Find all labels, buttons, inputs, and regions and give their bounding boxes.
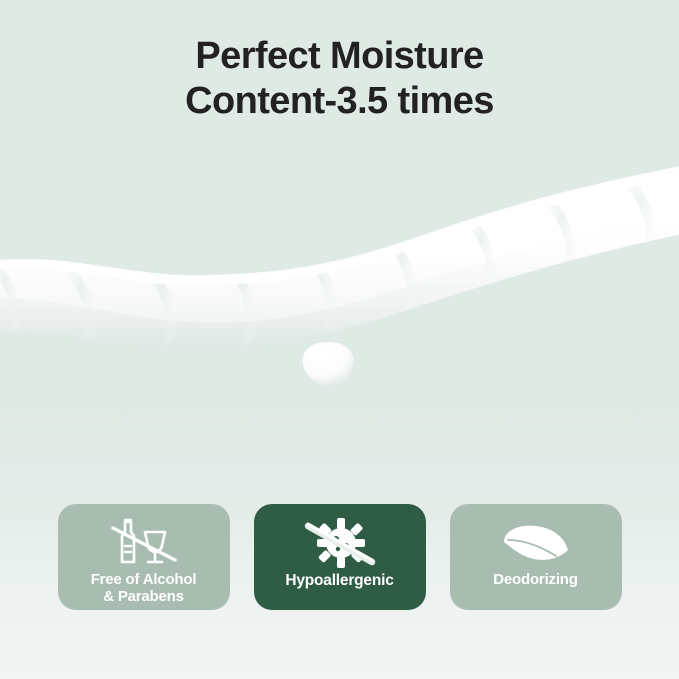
badge-label: Free of Alcohol & Parabens	[91, 572, 197, 606]
badge-free-of-alcohol[interactable]: Free of Alcohol & Parabens	[58, 504, 230, 610]
droplet-highlight	[312, 350, 330, 362]
no-alcohol-icon-svg	[105, 518, 183, 568]
badge-label: Hypoallergenic	[285, 572, 393, 589]
foam-droplet	[303, 342, 354, 386]
no-allergen-virus-icon-svg	[304, 518, 376, 568]
page-title-line-2: Content-3.5 times	[0, 79, 679, 124]
product-feature-image: Perfect Moisture Content-3.5 times	[0, 0, 679, 679]
foam-rope-image	[0, 150, 679, 400]
page-title-line-1: Perfect Moisture	[0, 34, 679, 79]
badge-deodorizing[interactable]: Deodorizing	[450, 504, 622, 610]
leaf-icon-svg	[498, 520, 574, 566]
page-title: Perfect Moisture Content-3.5 times	[0, 34, 679, 124]
no-alcohol-icon	[105, 516, 183, 570]
badge-label: Deodorizing	[493, 572, 577, 589]
leaf-icon	[498, 516, 574, 570]
no-allergen-virus-icon	[304, 516, 376, 570]
badge-hypoallergenic[interactable]: Hypoallergenic	[254, 504, 426, 610]
foam-rope-svg	[0, 150, 679, 400]
feature-badge-row: Free of Alcohol & Parabens	[0, 504, 679, 610]
